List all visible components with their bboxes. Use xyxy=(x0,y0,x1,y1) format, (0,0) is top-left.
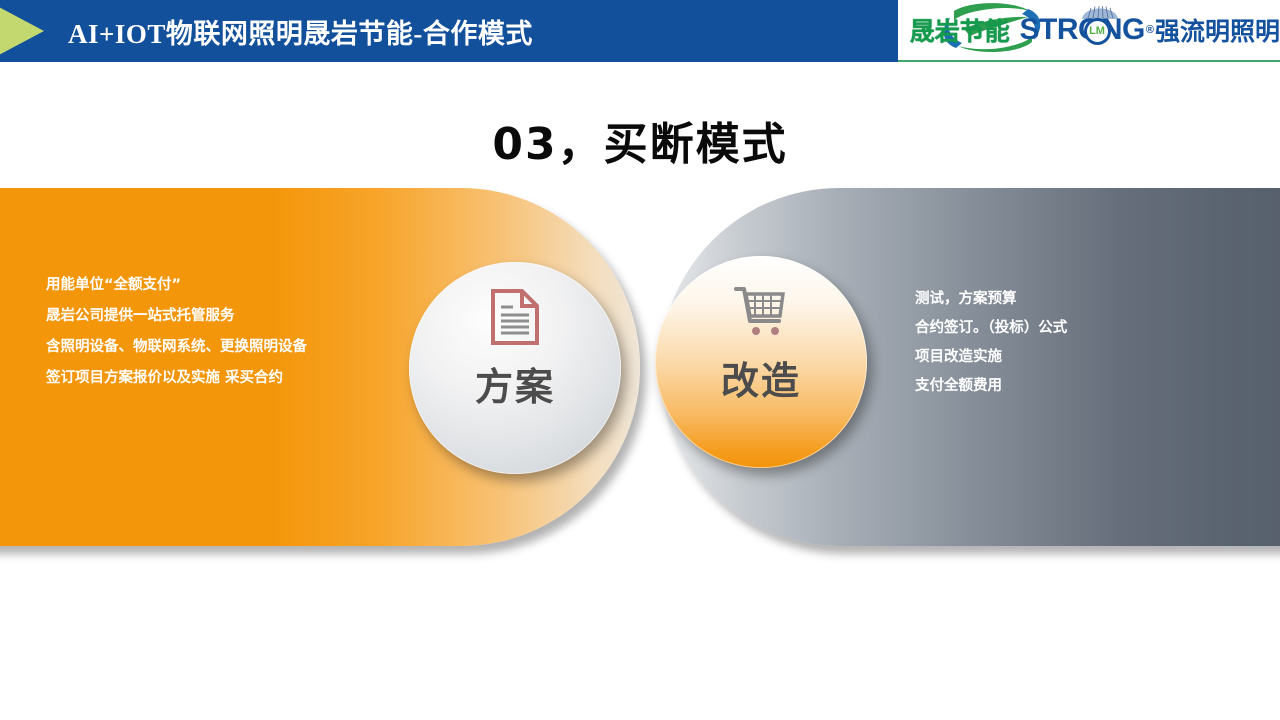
circle-plan[interactable]: 方案 xyxy=(409,262,621,474)
panel-build-line: 合约签订。（投标）公式 xyxy=(915,314,1235,343)
shopping-cart-icon xyxy=(733,283,789,339)
content-area: 用能单位“全额支付” 晟岩公司提供一站式托管服务 含照明设备、物联网系统、更换照… xyxy=(0,0,1280,720)
circle-plan-icon-wrap xyxy=(489,288,541,346)
circle-build-label: 改造 xyxy=(721,350,801,405)
panel-build-line: 测试，方案预算 xyxy=(915,285,1235,314)
panel-plan-line: 含照明设备、物联网系统、更换照明设备 xyxy=(46,332,386,363)
circle-plan-label: 方案 xyxy=(475,356,555,411)
panel-build-text: 测试，方案预算 合约签订。（投标）公式 项目改造实施 支付全额费用 xyxy=(915,285,1235,401)
circle-build-icon-wrap xyxy=(733,282,789,340)
shengyan-logo-text: 晟岩节能 xyxy=(910,12,1010,48)
circle-build[interactable]: 改造 xyxy=(655,256,867,468)
panel-plan-line: 用能单位“全额支付” xyxy=(46,270,386,301)
panel-build-line: 项目改造实施 xyxy=(915,343,1235,372)
panel-plan-line: 晟岩公司提供一站式托管服务 xyxy=(46,301,386,332)
panel-plan-line: 签订项目方案报价以及实施 采买合约 xyxy=(46,363,386,394)
panel-build-line: 支付全额费用 xyxy=(915,372,1235,401)
panel-plan-text: 用能单位“全额支付” 晟岩公司提供一站式托管服务 含照明设备、物联网系统、更换照… xyxy=(46,270,386,394)
document-icon xyxy=(489,288,541,346)
slide: AI+IOT物联网照明晟岩节能-合作模式 晟岩节能 xyxy=(0,0,1280,720)
